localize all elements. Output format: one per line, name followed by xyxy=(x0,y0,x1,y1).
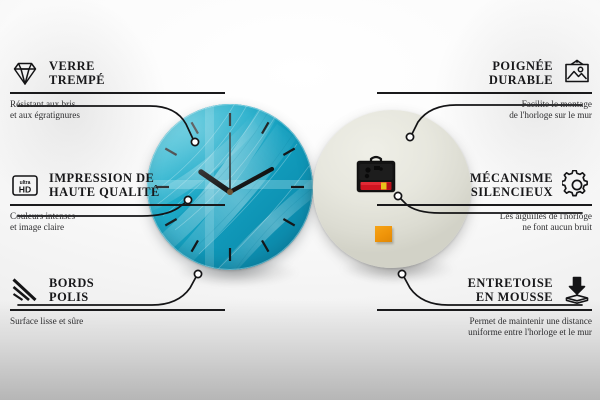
feature-title: MÉCANISME SILENCIEUX xyxy=(470,171,553,200)
feature-impression-haute-qualite[interactable]: ultra HD IMPRESSION DE HAUTE QUALITÉ Cou… xyxy=(10,170,225,234)
feature-title: ENTRETOISE EN MOUSSE xyxy=(468,276,553,305)
ultra-hd-icon: ultra HD xyxy=(10,170,40,200)
connector-endpoint-poignee xyxy=(406,133,413,140)
gear-icon xyxy=(562,170,592,200)
feature-poignee-durable[interactable]: POIGNÉE DURABLE Facilite le montage de l… xyxy=(377,58,592,122)
feature-divider xyxy=(10,204,225,206)
feature-header: ENTRETOISE EN MOUSSE xyxy=(377,275,592,305)
feature-description: Facilite le montage de l'horloge sur le … xyxy=(377,99,592,122)
feature-description: Couleurs intenses et image claire xyxy=(10,211,225,234)
feature-divider xyxy=(10,309,225,311)
arrow-down-foam-icon xyxy=(562,275,592,305)
feature-divider xyxy=(377,309,592,311)
feature-header: ultra HD IMPRESSION DE HAUTE QUALITÉ xyxy=(10,170,225,200)
feature-title: IMPRESSION DE HAUTE QUALITÉ xyxy=(49,171,160,200)
feature-bords-polis[interactable]: BORDS POLIS Surface lisse et sûre xyxy=(10,275,225,327)
feature-description: Résistant aux bris et aux égratignures xyxy=(10,99,225,122)
feature-divider xyxy=(10,92,225,94)
feature-mecanisme-silencieux[interactable]: MÉCANISME SILENCIEUX Les aiguilles de l'… xyxy=(377,170,592,234)
infographic-canvas: VERRE TREMPÉ Résistant aux bris et aux é… xyxy=(0,0,600,400)
feature-description: Surface lisse et sûre xyxy=(10,316,225,327)
feature-title: VERRE TREMPÉ xyxy=(49,59,105,88)
feature-header: POIGNÉE DURABLE xyxy=(377,58,592,88)
diamond-icon xyxy=(10,58,40,88)
feature-title: BORDS POLIS xyxy=(49,276,94,305)
feature-header: BORDS POLIS xyxy=(10,275,225,305)
feature-divider xyxy=(377,204,592,206)
feature-description: Permet de maintenir une distance uniform… xyxy=(377,316,592,339)
feature-entretoise-en-mousse[interactable]: ENTRETOISE EN MOUSSE Permet de maintenir… xyxy=(377,275,592,339)
connector-endpoint-verre-trempe xyxy=(191,138,198,145)
picture-hanger-icon xyxy=(562,58,592,88)
feature-description: Les aiguilles de l'horloge ne font aucun… xyxy=(377,211,592,234)
feature-divider xyxy=(377,92,592,94)
svg-text:HD: HD xyxy=(19,184,31,194)
feature-header: VERRE TREMPÉ xyxy=(10,58,225,88)
feature-title: POIGNÉE DURABLE xyxy=(489,59,553,88)
polished-edges-icon xyxy=(10,275,40,305)
feature-header: MÉCANISME SILENCIEUX xyxy=(377,170,592,200)
feature-verre-trempe[interactable]: VERRE TREMPÉ Résistant aux bris et aux é… xyxy=(10,58,225,122)
